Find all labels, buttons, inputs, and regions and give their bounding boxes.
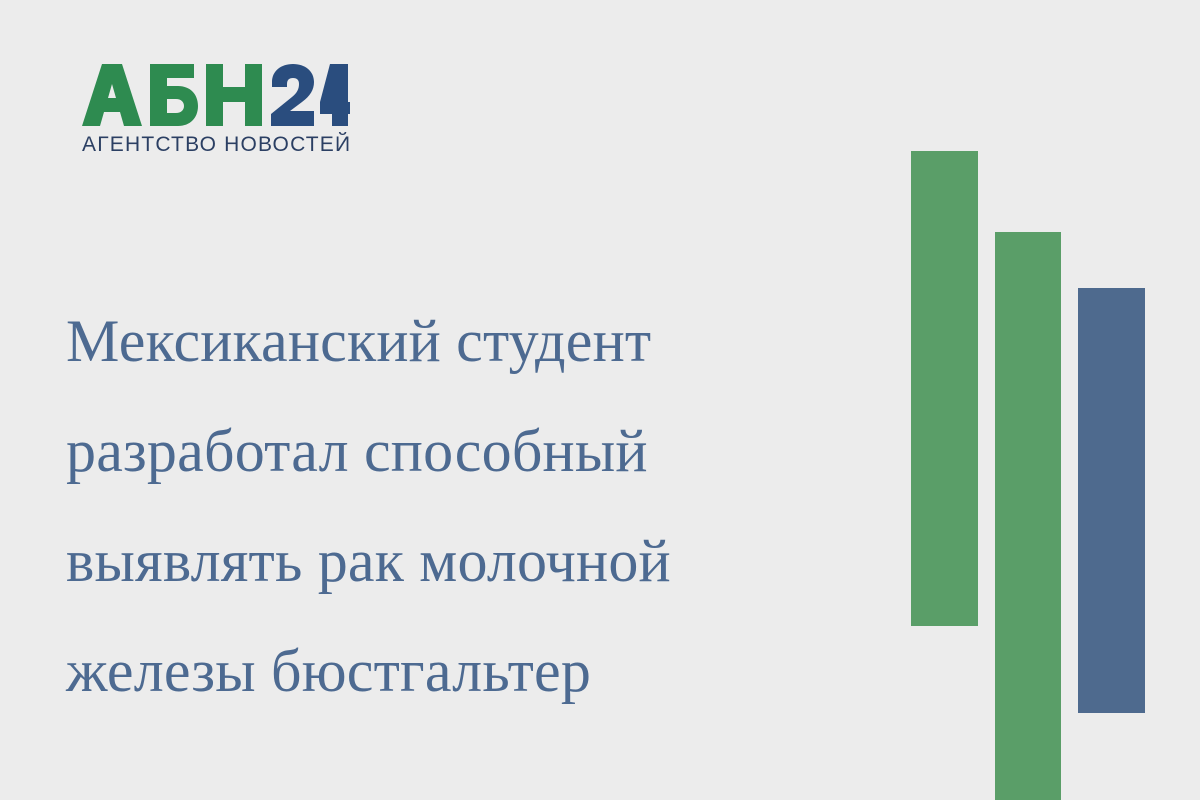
decorative-bar-green-long bbox=[995, 232, 1061, 800]
headline-line-1: Мексиканский студент bbox=[66, 286, 866, 396]
headline-line-4: железы бюстгальтер bbox=[66, 616, 866, 726]
headline-line-2: разработал способный bbox=[66, 396, 866, 506]
logo[interactable]: АГЕНТСТВО НОВОСТЕЙ bbox=[82, 64, 372, 161]
headline: Мексиканский студент разработал способны… bbox=[66, 286, 866, 726]
logo-tagline-svg: АГЕНТСТВО НОВОСТЕЙ bbox=[82, 132, 362, 156]
logo-mark-abn24 bbox=[82, 64, 350, 126]
headline-line-3: выявлять рак молочной bbox=[66, 506, 866, 616]
logo-tagline: АГЕНТСТВО НОВОСТЕЙ bbox=[82, 132, 372, 161]
decorative-bar-green-tall bbox=[911, 151, 978, 626]
logo-tagline-text: АГЕНТСТВО НОВОСТЕЙ bbox=[82, 132, 351, 156]
decorative-bar-blue bbox=[1078, 288, 1145, 713]
